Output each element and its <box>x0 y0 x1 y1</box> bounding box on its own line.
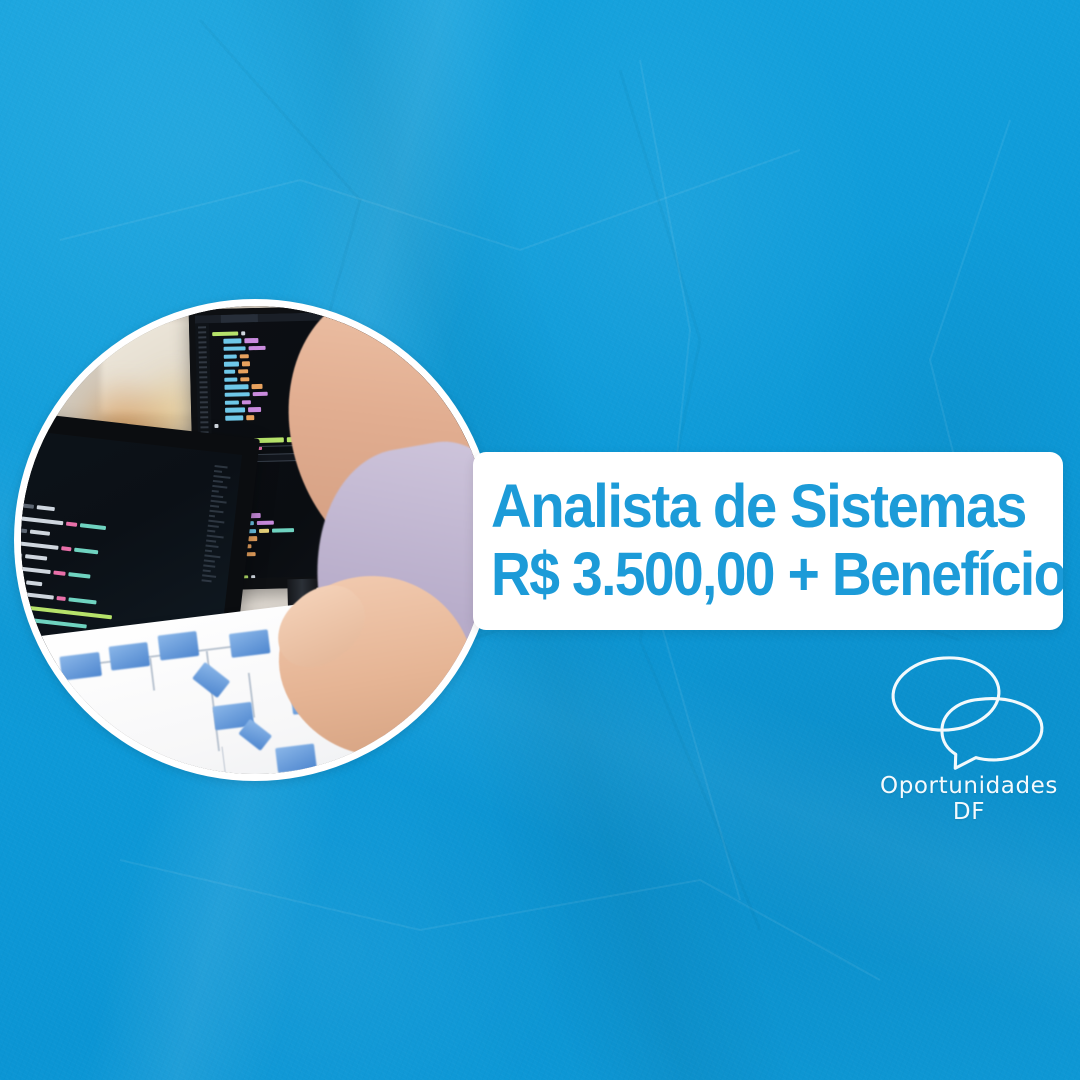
flowchart-node <box>59 652 101 681</box>
flowchart-node <box>108 641 150 670</box>
flowchart-node <box>157 631 199 660</box>
flowchart-node <box>275 743 317 772</box>
job-posting-poster: Analista de Sistemas R$ 3.500,00 + Benef… <box>0 0 1080 1080</box>
flowchart-node <box>229 629 271 658</box>
two-speech-bubbles-icon <box>876 650 1062 780</box>
brand-name: Oportunidades DF <box>876 773 1062 825</box>
brand-logo: Oportunidades DF <box>876 650 1062 830</box>
job-info-card: Analista de Sistemas R$ 3.500,00 + Benef… <box>473 452 1063 630</box>
circular-photo-frame <box>14 299 496 781</box>
job-title: Analista de Sistemas <box>491 475 1020 538</box>
flowchart-decision <box>192 661 230 697</box>
photo-scene <box>21 306 489 774</box>
circular-photo <box>21 306 489 774</box>
flowchart-node <box>310 768 352 774</box>
job-salary: R$ 3.500,00 + Benefícios <box>491 543 1009 606</box>
